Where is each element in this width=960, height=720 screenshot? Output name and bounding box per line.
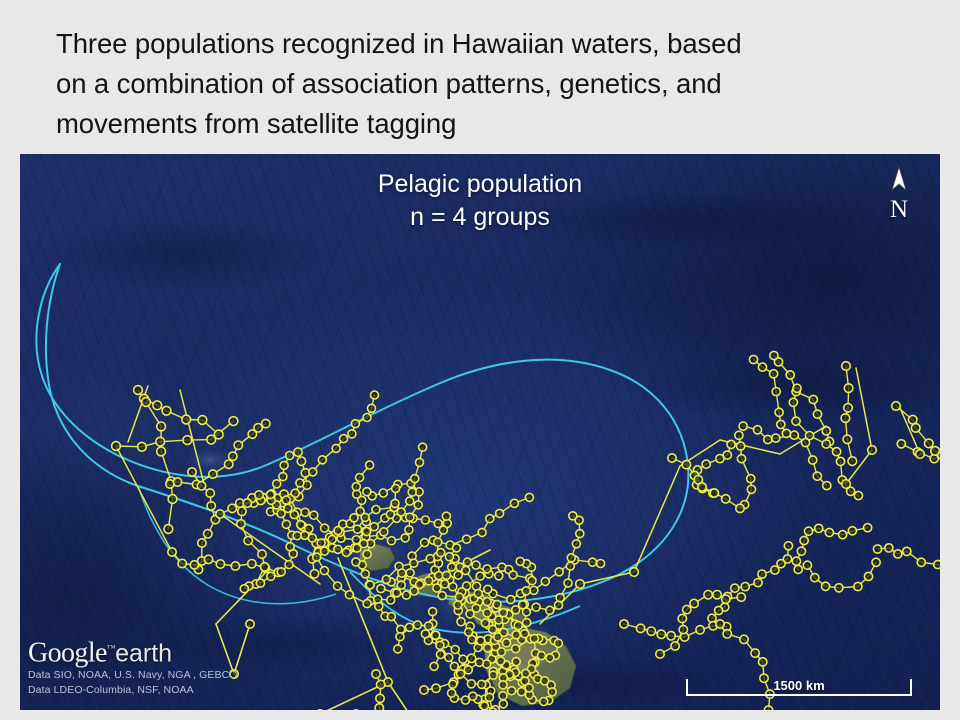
sighting-marker	[443, 571, 451, 579]
sighting-marker	[313, 553, 321, 561]
sighting-marker	[589, 558, 597, 566]
sighting-marker	[868, 446, 877, 455]
sighting-marker	[157, 422, 166, 431]
sighting-marker	[363, 488, 371, 496]
sighting-marker	[377, 680, 385, 688]
sighting-marker	[759, 658, 767, 666]
sighting-marker	[844, 384, 853, 393]
sighting-marker	[843, 435, 852, 444]
sighting-marker	[342, 548, 350, 556]
sighting-marker	[432, 684, 440, 692]
sighting-marker	[262, 419, 270, 427]
sighting-marker	[457, 670, 465, 678]
sighting-marker	[277, 568, 285, 576]
sighting-marker	[387, 613, 395, 621]
sighting-marker	[238, 507, 246, 515]
sighting-marker	[885, 544, 893, 552]
sighting-marker	[667, 632, 675, 640]
sighting-marker	[296, 479, 304, 487]
sighting-marker	[489, 671, 497, 679]
sighting-marker	[361, 513, 369, 521]
sighting-marker	[197, 482, 205, 490]
sighting-marker	[436, 641, 444, 649]
sighting-marker	[508, 687, 516, 695]
sighting-marker	[475, 658, 483, 666]
sighting-marker	[735, 431, 743, 439]
sighting-marker	[484, 644, 492, 652]
sighting-marker	[848, 457, 857, 466]
sighting-marker	[366, 461, 374, 469]
sighting-marker	[620, 620, 628, 628]
sighting-marker	[925, 439, 934, 448]
sighting-marker	[198, 539, 206, 547]
sighting-marker	[178, 559, 186, 567]
sighting-marker	[747, 485, 755, 493]
sighting-marker	[737, 593, 745, 601]
sighting-marker	[546, 606, 554, 614]
sighting-marker	[434, 538, 442, 546]
sighting-marker	[805, 527, 813, 535]
sighting-marker	[162, 406, 171, 415]
sighting-marker	[334, 545, 342, 553]
sighting-marker	[255, 491, 263, 499]
sighting-marker	[636, 624, 644, 632]
sighting-marker	[396, 633, 404, 641]
sighting-marker	[237, 520, 245, 528]
track-segment	[580, 572, 634, 584]
sighting-marker	[297, 457, 305, 465]
sighting-marker	[321, 524, 329, 532]
sighting-marker	[530, 586, 538, 594]
sighting-marker	[519, 601, 527, 609]
sighting-marker	[382, 575, 390, 583]
sighting-marker	[449, 680, 457, 688]
sighting-marker	[841, 414, 850, 423]
sighting-marker	[363, 600, 371, 608]
track-segment	[846, 450, 872, 484]
sighting-marker	[656, 650, 664, 658]
sighting-marker	[576, 530, 584, 538]
sighting-marker	[499, 700, 507, 708]
sighting-marker	[402, 591, 410, 599]
sighting-marker	[240, 585, 248, 593]
sighting-marker	[777, 420, 785, 428]
sighting-marker	[790, 431, 798, 439]
sighting-marker	[435, 572, 443, 580]
sighting-marker	[142, 398, 151, 407]
google-earth-logo: Google™earth	[28, 633, 238, 668]
sighting-marker	[457, 618, 465, 626]
title-line-2: on a combination of association patterns…	[56, 64, 926, 104]
sighting-marker	[207, 502, 215, 510]
sighting-marker	[493, 600, 501, 608]
sighting-marker	[770, 370, 778, 378]
sighting-marker	[722, 595, 730, 603]
sighting-marker	[282, 520, 290, 528]
sighting-marker	[510, 499, 518, 507]
sighting-marker	[273, 480, 281, 488]
sighting-marker	[350, 514, 358, 522]
sighting-marker	[421, 516, 429, 524]
sighting-marker	[772, 388, 780, 396]
sighting-marker	[183, 436, 192, 445]
sighting-marker	[134, 386, 143, 395]
sighting-marker	[822, 440, 830, 448]
sighting-marker	[419, 443, 427, 451]
sighting-marker	[509, 571, 517, 579]
sighting-marker	[204, 530, 212, 538]
sighting-marker	[379, 489, 387, 497]
north-arrow-icon	[888, 166, 910, 192]
sighting-marker	[483, 598, 491, 606]
sighting-marker	[441, 580, 449, 588]
sighting-marker	[173, 478, 181, 486]
sighting-marker	[740, 635, 748, 643]
sighting-marker	[864, 524, 872, 532]
sighting-marker	[266, 491, 274, 499]
sighting-marker	[770, 351, 778, 359]
sighting-marker	[406, 513, 414, 521]
sighting-marker	[758, 570, 766, 578]
sighting-marker	[556, 594, 564, 602]
sighting-marker	[478, 680, 486, 688]
attribution-line-1: Data SIO, NOAA, U.S. Navy, NGA , GEBCO	[28, 668, 238, 683]
sighting-marker	[772, 434, 780, 442]
sighting-marker	[246, 620, 254, 628]
sighting-marker	[723, 630, 731, 638]
sighting-marker	[822, 582, 830, 590]
sighting-marker	[736, 504, 744, 512]
sighting-marker	[372, 670, 380, 678]
sighting-marker	[352, 483, 360, 491]
sighting-marker	[911, 424, 920, 433]
sighting-marker	[467, 680, 475, 688]
sighting-marker	[248, 560, 256, 568]
sighting-marker	[462, 696, 470, 704]
attribution-line-2: Data LDEO-Columbia, NSF, NOAA	[28, 683, 238, 698]
sighting-marker	[931, 447, 940, 456]
sighting-marker	[386, 510, 394, 518]
sighting-marker	[731, 584, 739, 592]
sighting-marker	[512, 645, 520, 653]
sighting-marker	[397, 508, 405, 516]
sighting-marker	[414, 501, 422, 509]
sighting-marker	[411, 475, 419, 483]
sighting-marker	[554, 639, 562, 647]
sighting-marker	[209, 470, 217, 478]
sighting-marker	[564, 579, 572, 587]
sighting-marker	[464, 558, 472, 566]
track-segment	[634, 466, 680, 572]
sighting-marker	[702, 460, 710, 468]
sighting-marker	[532, 603, 540, 611]
sighting-marker	[530, 635, 538, 643]
sighting-marker	[112, 442, 121, 451]
sighting-marker	[481, 619, 489, 627]
sighting-marker	[835, 584, 843, 592]
sighting-marker	[771, 566, 779, 574]
sighting-marker	[739, 422, 747, 430]
sighting-marker	[727, 440, 735, 448]
sighting-marker	[597, 560, 605, 568]
sighting-marker	[793, 384, 801, 392]
sighting-marker	[555, 568, 563, 576]
sighting-marker	[437, 549, 445, 557]
sighting-marker	[361, 570, 369, 578]
sighting-marker	[813, 410, 821, 418]
sighting-marker	[376, 694, 384, 702]
sighting-marker	[696, 626, 704, 634]
sighting-marker	[671, 642, 679, 650]
sighting-marker	[864, 572, 872, 580]
sighting-marker	[537, 652, 545, 660]
sighting-marker	[678, 614, 686, 622]
sighting-marker	[391, 499, 399, 507]
title-line-3: movements from satellite tagging	[56, 104, 926, 144]
sighting-marker	[848, 527, 856, 535]
sighting-marker	[483, 565, 491, 573]
sighting-marker	[805, 432, 813, 440]
compass-north-letter: N	[882, 198, 916, 222]
sighting-marker	[455, 593, 463, 601]
sighting-marker	[321, 547, 329, 555]
sighting-marker	[454, 601, 462, 609]
sighting-marker	[934, 560, 940, 568]
sighting-marker	[309, 468, 317, 476]
sighting-marker	[284, 504, 292, 512]
sighting-marker	[414, 621, 422, 629]
sighting-marker	[368, 404, 376, 412]
sighting-marker	[380, 528, 388, 536]
sighting-marker	[371, 391, 379, 399]
sighting-marker	[507, 596, 515, 604]
sighting-marker	[406, 569, 414, 577]
sighting-marker	[476, 572, 484, 580]
sighting-marker	[451, 646, 459, 654]
sighting-marker	[432, 631, 440, 639]
sighting-marker	[370, 523, 378, 531]
sighting-marker	[897, 440, 905, 448]
sighting-marker	[387, 596, 395, 604]
sighting-marker	[426, 555, 434, 563]
sighting-marker	[453, 544, 461, 552]
sighting-marker	[514, 622, 522, 630]
sighting-marker	[216, 560, 224, 568]
earth-wordmark: earth	[115, 639, 172, 667]
map-overlay-layer	[20, 154, 940, 710]
sighting-marker	[392, 485, 400, 493]
sighting-marker	[340, 435, 348, 443]
sighting-marker	[892, 402, 901, 411]
sighting-marker	[576, 580, 585, 589]
sighting-marker	[363, 550, 371, 558]
sighting-marker	[294, 448, 302, 456]
sighting-marker	[360, 540, 368, 548]
sighting-marker	[348, 430, 356, 438]
sighting-marker	[388, 537, 396, 545]
sighting-marker	[546, 654, 554, 662]
sighting-marker	[474, 590, 482, 598]
sighting-marker	[800, 536, 808, 544]
sighting-marker	[682, 460, 690, 468]
sighting-marker	[405, 526, 413, 534]
sighting-marker	[168, 548, 176, 556]
sighting-marker	[747, 475, 755, 483]
sighting-marker	[854, 492, 862, 500]
sighting-marker	[737, 455, 745, 463]
sighting-marker	[489, 708, 497, 710]
sighting-marker	[267, 572, 275, 580]
sighting-marker	[903, 547, 911, 555]
sighting-marker	[285, 561, 293, 569]
sighting-marker	[353, 525, 361, 533]
sighting-marker	[499, 692, 507, 700]
sighting-marker	[257, 579, 265, 587]
sighting-marker	[710, 489, 718, 497]
sighting-marker	[698, 483, 706, 491]
sighting-marker	[522, 669, 530, 677]
sighting-marker	[286, 452, 294, 460]
sighting-marker	[320, 567, 328, 575]
sighting-marker	[749, 355, 757, 363]
sighting-marker	[393, 589, 401, 597]
sighting-marker	[754, 579, 762, 587]
sighting-marker	[825, 528, 833, 536]
sighting-marker	[410, 559, 418, 567]
sighting-marker	[815, 524, 823, 532]
sighting-marker	[548, 688, 556, 696]
sighting-marker	[690, 599, 698, 607]
track-segment	[116, 446, 172, 552]
sighting-marker	[758, 363, 766, 371]
sighting-marker	[345, 591, 353, 599]
sighting-marker	[844, 404, 853, 413]
sighting-marker	[445, 653, 453, 661]
sighting-marker	[425, 577, 433, 585]
sighting-marker	[854, 582, 862, 590]
google-earth-attribution: Google™earth Data SIO, NOAA, U.S. Navy, …	[28, 633, 238, 698]
sighting-marker	[916, 450, 925, 459]
sighting-marker	[657, 630, 665, 638]
sighting-marker	[811, 574, 819, 582]
sighting-marker	[394, 645, 402, 653]
sighting-marker	[244, 536, 252, 544]
track-segment	[856, 368, 872, 450]
sighting-marker	[522, 587, 530, 595]
sighting-marker	[809, 395, 817, 403]
sighting-marker	[516, 557, 524, 565]
sighting-marker	[234, 441, 242, 449]
sighting-marker	[468, 636, 476, 644]
sighting-marker	[833, 448, 841, 456]
sighting-marker	[301, 508, 309, 516]
sighting-marker	[716, 620, 724, 628]
sighting-marker	[310, 511, 318, 519]
sighting-marker	[484, 585, 492, 593]
sighting-marker	[481, 702, 489, 710]
sighting-marker	[463, 535, 471, 543]
sighting-marker	[138, 442, 147, 451]
sighting-marker	[439, 526, 447, 534]
sighting-marker	[198, 416, 207, 425]
sighting-marker	[229, 452, 237, 460]
google-earth-map[interactable]: Pelagic population n = 4 groups N Google…	[20, 154, 940, 710]
sighting-marker	[715, 606, 723, 614]
sighting-marker	[782, 429, 790, 437]
sighting-marker	[465, 628, 473, 636]
sighting-marker	[784, 542, 792, 550]
sighting-marker	[397, 581, 405, 589]
sighting-marker	[260, 563, 268, 571]
sighting-marker	[572, 540, 580, 548]
sighting-marker	[450, 662, 458, 670]
sighting-marker	[289, 550, 297, 558]
sighting-marker	[566, 562, 574, 570]
sighting-marker	[310, 570, 318, 578]
sighting-marker	[823, 482, 831, 490]
scale-bar: 1500 km	[686, 679, 912, 696]
sighting-marker	[420, 686, 428, 694]
sighting-marker	[229, 417, 238, 426]
sighting-marker	[497, 657, 505, 665]
sighting-marker	[495, 572, 503, 580]
sighting-marker	[410, 587, 418, 595]
google-wordmark: Google	[28, 637, 107, 668]
sighting-marker	[425, 622, 433, 630]
sighting-marker	[398, 569, 406, 577]
sighting-marker	[243, 499, 251, 507]
sighting-marker	[429, 608, 437, 616]
sighting-marker	[555, 601, 563, 609]
sighting-marker	[525, 493, 533, 501]
sighting-marker	[813, 472, 821, 480]
sighting-marker	[430, 662, 438, 670]
sighting-marker	[291, 489, 299, 497]
sighting-marker	[789, 398, 797, 406]
sighting-marker	[518, 688, 526, 696]
sighting-marker	[836, 457, 844, 465]
sighting-marker	[317, 539, 325, 547]
sighting-marker	[353, 490, 361, 498]
sighting-marker	[764, 706, 772, 710]
sighting-marker	[569, 512, 577, 520]
sighting-marker	[258, 550, 266, 558]
sighting-marker	[153, 401, 162, 410]
sighting-marker	[873, 545, 881, 553]
sighting-marker	[792, 557, 800, 565]
sighting-marker	[472, 604, 480, 612]
sighting-marker	[449, 583, 457, 591]
sighting-marker	[668, 454, 676, 462]
sighting-marker	[377, 585, 385, 593]
sighting-marker	[297, 521, 305, 529]
sighting-marker	[164, 525, 173, 534]
sighting-marker	[421, 630, 429, 638]
sighting-marker	[442, 512, 450, 520]
sighting-marker	[308, 534, 316, 542]
sighting-marker	[683, 605, 691, 613]
sighting-marker	[366, 581, 374, 589]
sighting-marker	[775, 408, 783, 416]
sighting-marker	[282, 496, 290, 504]
sighting-marker	[704, 591, 712, 599]
sighting-marker	[737, 442, 745, 450]
sighting-marker	[448, 689, 456, 697]
sighting-marker	[438, 592, 446, 600]
sighting-marker	[647, 627, 655, 635]
sighting-marker	[797, 547, 805, 555]
sighting-marker	[445, 553, 453, 561]
